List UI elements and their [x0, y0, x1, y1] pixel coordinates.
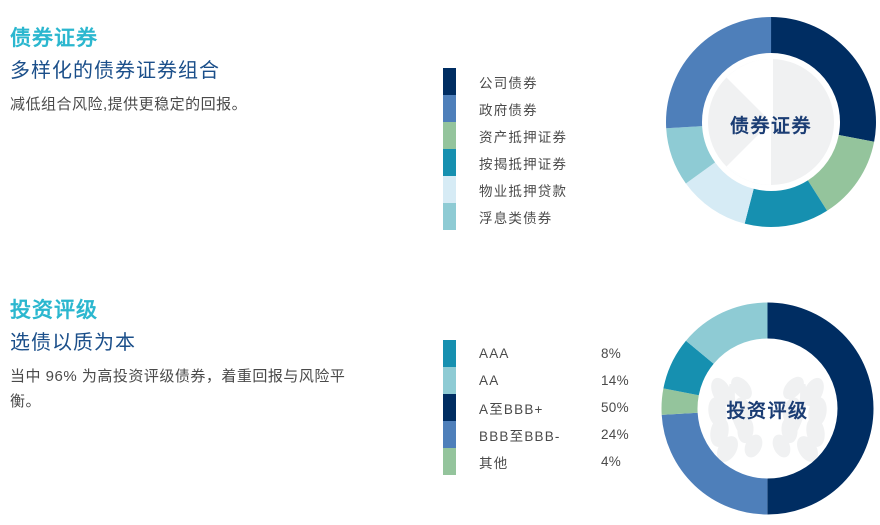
- legend-label: 浮息类债券: [479, 207, 553, 227]
- legend-row-inner: A至BBB+ 50%: [456, 394, 561, 421]
- section-investment-rating: 投资评级 选债以质为本 当中 96% 为高投资评级债券，着重回报与风险平衡。 A…: [0, 263, 880, 525]
- legend-swatch: [443, 340, 456, 367]
- legend-label: 政府债券: [479, 99, 538, 119]
- rating-body-text: 当中 96% 为高投资评级债券，着重回报与风险平衡。: [10, 365, 365, 414]
- legend-label: BBB至BBB-: [479, 425, 561, 445]
- legend-row-inner: AA 14%: [456, 367, 561, 394]
- bond-eyebrow: 债券证券: [10, 26, 430, 52]
- legend-value: 4%: [601, 454, 621, 469]
- legend-label: 公司债券: [479, 72, 538, 92]
- legend-item[interactable]: 浮息类债券: [443, 203, 567, 230]
- legend-swatch: [443, 367, 456, 394]
- legend-swatch: [443, 394, 456, 421]
- legend-swatch: [443, 122, 456, 149]
- legend-item[interactable]: 其他 4%: [443, 448, 561, 475]
- legend-row-inner: AAA 8%: [456, 340, 561, 367]
- section-bond-securities: 债券证券 多样化的债券证券组合 减低组合风险,提供更稳定的回报。 公司债券 政府…: [0, 0, 880, 262]
- legend-item[interactable]: AAA 8%: [443, 340, 561, 367]
- legend-value: 24%: [601, 427, 629, 442]
- legend-item[interactable]: 物业抵押贷款: [443, 176, 567, 203]
- bond-headline: 多样化的债券证券组合: [10, 58, 430, 84]
- legend-label: 按揭抵押证券: [479, 153, 567, 173]
- legend-swatch: [443, 448, 456, 475]
- legend-swatch: [443, 68, 456, 95]
- legend-value: 8%: [601, 346, 621, 361]
- legend-swatch: [443, 149, 456, 176]
- rating-chart-legend: AAA 8% AA 14% A至BBB+ 50% BBB至BBB- 24%: [443, 340, 561, 475]
- rating-text-block: 投资评级 选债以质为本 当中 96% 为高投资评级债券，着重回报与风险平衡。: [10, 298, 430, 414]
- laurel-wreath-watermark-icon: [706, 373, 829, 466]
- bond-body-text: 减低组合风险,提供更稳定的回报。: [10, 93, 365, 117]
- legend-item[interactable]: 资产抵押证券: [443, 122, 567, 149]
- legend-row-inner: BBB至BBB- 24%: [456, 421, 561, 448]
- bond-donut-chart: 债券证券: [662, 13, 880, 231]
- legend-item[interactable]: 公司债券: [443, 68, 567, 95]
- legend-label: AAA: [479, 346, 510, 361]
- pie-chart-watermark-icon: [708, 59, 834, 185]
- legend-label: AA: [479, 373, 499, 388]
- legend-item[interactable]: 政府债券: [443, 95, 567, 122]
- rating-headline: 选债以质为本: [10, 330, 430, 356]
- legend-item[interactable]: AA 14%: [443, 367, 561, 394]
- legend-value: 14%: [601, 373, 629, 388]
- legend-label: 资产抵押证券: [479, 126, 567, 146]
- bond-text-block: 债券证券 多样化的债券证券组合 减低组合风险,提供更稳定的回报。: [10, 26, 430, 118]
- legend-swatch: [443, 421, 456, 448]
- legend-swatch: [443, 95, 456, 122]
- legend-label: 其他: [479, 452, 508, 472]
- legend-label: A至BBB+: [479, 398, 544, 418]
- legend-item[interactable]: 按揭抵押证券: [443, 149, 567, 176]
- rating-donut-svg: [655, 296, 880, 521]
- bond-donut-svg: [662, 13, 880, 231]
- legend-swatch: [443, 176, 456, 203]
- legend-swatch: [443, 203, 456, 230]
- legend-item[interactable]: A至BBB+ 50%: [443, 394, 561, 421]
- rating-donut-chart: 投资评级: [655, 296, 880, 521]
- donut-ring: [680, 321, 856, 497]
- legend-label: 物业抵押贷款: [479, 180, 567, 200]
- legend-value: 50%: [601, 400, 629, 415]
- legend-item[interactable]: BBB至BBB- 24%: [443, 421, 561, 448]
- legend-row-inner: 其他 4%: [456, 448, 561, 475]
- rating-eyebrow: 投资评级: [10, 298, 430, 324]
- bond-chart-legend: 公司债券 政府债券 资产抵押证券 按揭抵押证券 物业抵押贷款 浮息类债券: [443, 68, 567, 230]
